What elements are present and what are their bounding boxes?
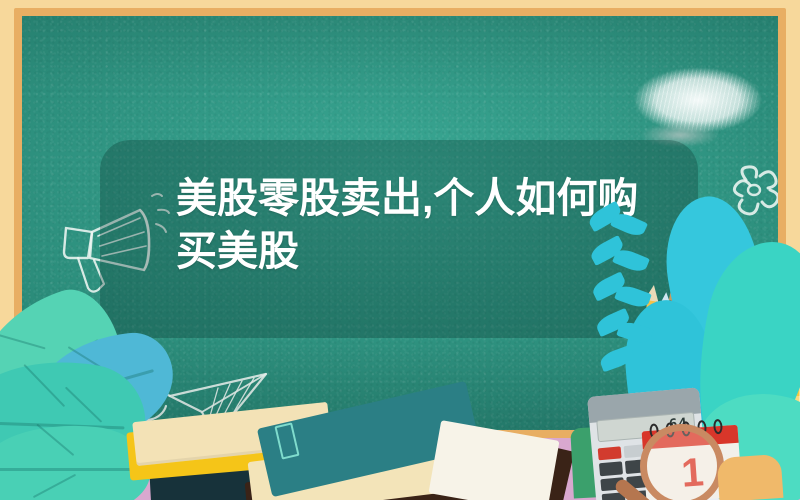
page-title-line-2: 买美股 (176, 228, 299, 274)
flower-chalk-icon (722, 244, 778, 302)
page-title-line-1: 美股零股卖出,个人如何购 (176, 175, 638, 221)
page-title: 美股零股卖出,个人如何购买美股 (176, 172, 646, 278)
flower-chalk-icon (726, 164, 778, 224)
poster-card: 美股零股卖出,个人如何购买美股 (0, 0, 800, 500)
paper-airplane-chalk-icon (118, 368, 288, 430)
